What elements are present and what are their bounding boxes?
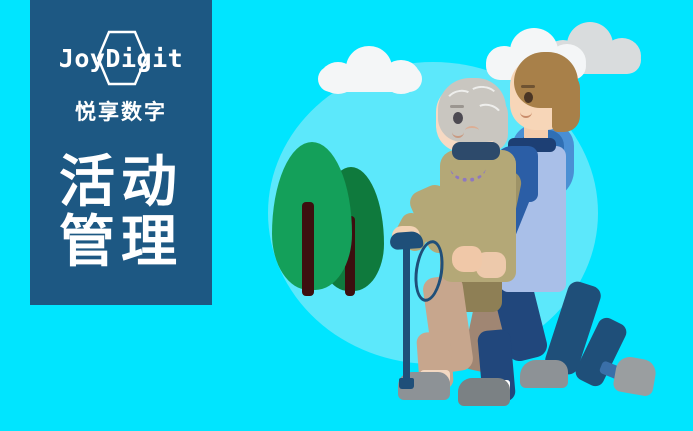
man-hand bbox=[452, 246, 482, 272]
banner-canvas: JoyDigit 悦享数字 活动 管理 bbox=[0, 0, 693, 431]
woman-eyebrow bbox=[450, 105, 464, 108]
page-title-line-2: 管理 bbox=[59, 212, 183, 272]
woman-necklace bbox=[450, 152, 486, 182]
man-eye bbox=[524, 92, 533, 103]
cane-shaft bbox=[403, 243, 410, 389]
cane-foot bbox=[399, 378, 414, 389]
logo: JoyDigit bbox=[46, 30, 196, 88]
woman-back-shoe bbox=[520, 360, 568, 388]
title-panel: JoyDigit 悦享数字 活动 管理 bbox=[30, 0, 212, 305]
logo-wordmark: JoyDigit bbox=[46, 44, 196, 73]
tree-front-trunk bbox=[302, 202, 314, 296]
man-back-shoe bbox=[612, 355, 658, 397]
page-title: 活动 管理 bbox=[59, 152, 183, 272]
cane-handle bbox=[389, 231, 423, 250]
cloud-left-icon bbox=[318, 46, 422, 92]
woman-eye bbox=[453, 112, 463, 124]
cloud-base bbox=[318, 66, 422, 92]
woman-cheek-line bbox=[465, 126, 479, 135]
page-title-line-1: 活动 bbox=[59, 152, 183, 212]
brand-name-cn: 悦享数字 bbox=[75, 96, 167, 126]
man-eyebrow bbox=[521, 85, 535, 88]
man-front-shoe bbox=[458, 378, 510, 406]
